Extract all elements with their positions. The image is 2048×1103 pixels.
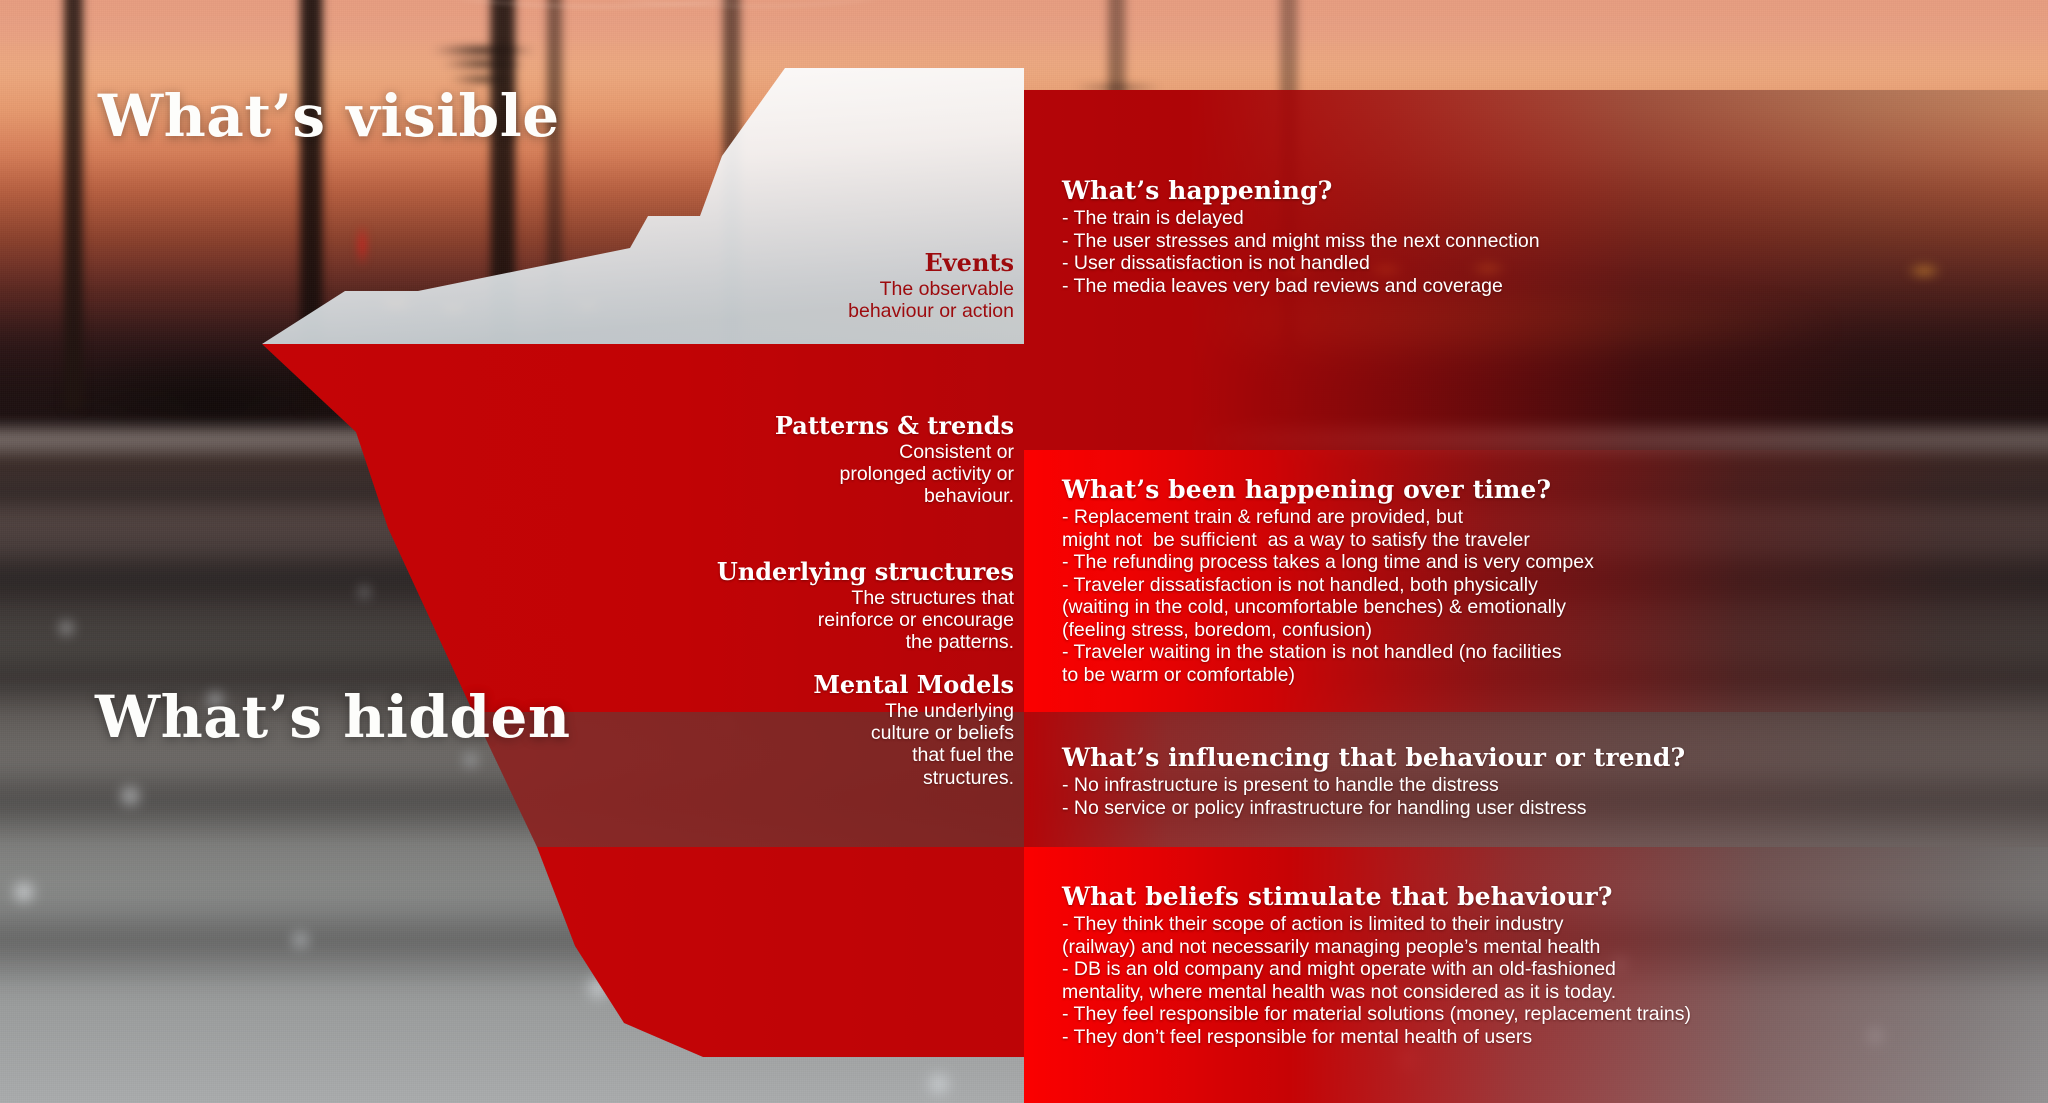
panel-mental-models: What beliefs stimulate that behaviour? -…: [1024, 847, 2048, 1103]
events-line-3: - User dissatisfaction is not handled: [1062, 252, 2008, 275]
label-events-desc-1: The observable: [584, 278, 1014, 300]
patterns-line-3: - The refunding process takes a long tim…: [1062, 551, 2008, 574]
events-line-2: - The user stresses and might miss the n…: [1062, 230, 2008, 253]
heading-whats-visible: What’s visible: [98, 82, 560, 150]
panel-events: What’s happening? - The train is delayed…: [1024, 90, 2048, 450]
label-patterns-title: Patterns & trends: [584, 411, 1014, 440]
mental-line-3: - DB is an old company and might operate…: [1062, 958, 2008, 981]
label-events-title: Events: [584, 248, 1014, 277]
patterns-line-4: - Traveler dissatisfaction is not handle…: [1062, 574, 2008, 597]
mental-line-4: mentality, where mental health was not c…: [1062, 981, 2008, 1004]
label-events: Events The observable behaviour or actio…: [584, 248, 1014, 322]
patterns-text-block: What’s been happening over time? - Repla…: [1062, 475, 2008, 686]
patterns-line-6: (feeling stress, boredom, confusion): [1062, 619, 2008, 642]
label-mental-desc-2: culture or beliefs: [584, 722, 1014, 744]
panel-patterns: What’s been happening over time? - Repla…: [1024, 450, 2048, 712]
events-line-1: - The train is delayed: [1062, 207, 2008, 230]
label-patterns-desc-2: prolonged activity or: [584, 463, 1014, 485]
mental-text-block: What beliefs stimulate that behaviour? -…: [1062, 882, 2008, 1048]
mental-line-2: (railway) and not necessarily managing p…: [1062, 936, 2008, 959]
structures-line-2: - No service or policy infrastructure fo…: [1062, 797, 2008, 820]
heading-whats-hidden: What’s hidden: [95, 683, 571, 751]
label-mental-desc-4: structures.: [584, 767, 1014, 789]
patterns-line-1: - Replacement train & refund are provide…: [1062, 506, 2008, 529]
label-mental-desc-3: that fuel the: [584, 744, 1014, 766]
label-events-desc-2: behaviour or action: [584, 300, 1014, 322]
patterns-question: What’s been happening over time?: [1062, 475, 2008, 504]
mental-line-1: - They think their scope of action is li…: [1062, 913, 2008, 936]
structures-line-1: - No infrastructure is present to handle…: [1062, 774, 2008, 797]
events-line-4: - The media leaves very bad reviews and …: [1062, 275, 2008, 298]
label-patterns-desc-3: behaviour.: [584, 485, 1014, 507]
mental-question: What beliefs stimulate that behaviour?: [1062, 882, 2008, 911]
label-patterns: Patterns & trends Consistent or prolonge…: [584, 411, 1014, 508]
label-structures: Underlying structures The structures tha…: [584, 557, 1014, 654]
patterns-line-5: (waiting in the cold, uncomfortable benc…: [1062, 596, 2008, 619]
mental-line-5: - They feel responsible for material sol…: [1062, 1003, 2008, 1026]
label-mental-title: Mental Models: [584, 670, 1014, 699]
label-mental-desc-1: The underlying: [584, 700, 1014, 722]
patterns-line-7: - Traveler waiting in the station is not…: [1062, 641, 2008, 664]
events-text-block: What’s happening? - The train is delayed…: [1062, 176, 2008, 297]
structures-question: What’s influencing that behaviour or tre…: [1062, 743, 2008, 772]
label-mental-models: Mental Models The underlying culture or …: [584, 670, 1014, 789]
iceberg-graphic: [0, 0, 1024, 1103]
patterns-line-2: might not be sufficient as a way to sati…: [1062, 529, 2008, 552]
label-structures-desc-1: The structures that: [584, 587, 1014, 609]
structures-text-block: What’s influencing that behaviour or tre…: [1062, 743, 2008, 819]
iceberg-band-mental: [537, 847, 1024, 1057]
panel-structures: What’s influencing that behaviour or tre…: [1024, 712, 2048, 847]
iceberg-shapes-svg: [0, 0, 1024, 1103]
events-question: What’s happening?: [1062, 176, 2008, 205]
iceberg-band-patterns: [262, 344, 1024, 712]
patterns-line-8: to be warm or comfortable): [1062, 664, 2008, 687]
label-patterns-desc-1: Consistent or: [584, 441, 1014, 463]
mental-line-6: - They don’t feel responsible for mental…: [1062, 1026, 2008, 1049]
label-structures-desc-2: reinforce or encourage: [584, 609, 1014, 631]
iceberg-model-slide: What’s happening? - The train is delayed…: [0, 0, 2048, 1103]
label-structures-desc-3: the patterns.: [584, 631, 1014, 653]
label-structures-title: Underlying structures: [584, 557, 1014, 586]
